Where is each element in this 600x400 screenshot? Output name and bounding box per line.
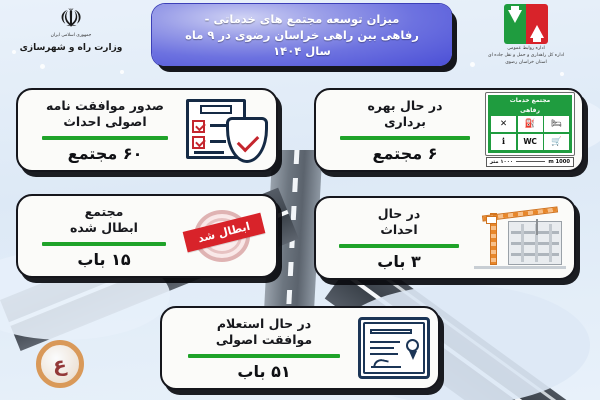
road-sign-distance-fa: ۱۰۰۰ متر [490,159,513,165]
road-sign-title-line-2: رفاهی [491,107,569,115]
clipboard-shield-icon [184,97,268,163]
stat-card-art: مجتمع خدمات رفاهی 🛏 ⛽ ✕ 🛒 WC ℹ 1000 m ۱۰… [486,93,574,167]
stat-card-inquiry[interactable]: در حال استعلام موافقت اصولی ۵۱ باب [160,306,440,390]
agency-watermark-logo: ﻉ [36,340,84,388]
stat-card-label-line-2: اصولی احداث [63,114,146,131]
road-sign-title-line-1: مجتمع خدمات [491,97,569,105]
crane-cabin [486,216,497,224]
organization-logo-block: اداره روابط عمومی اداره کل راهداری و حمل… [460,4,592,67]
iran-national-emblem-icon: ☫ [8,6,134,32]
stat-card-art [358,317,430,379]
service-complex-road-sign: مجتمع خدمات رفاهی 🛏 ⛽ ✕ 🛒 WC ℹ 1000 m ۱۰… [486,93,574,167]
ministry-caption-large: وزارت راه و شهرسازی [8,43,134,53]
stat-card-label-line-1: در حال [378,206,421,223]
fuel-pump-icon: ⛽ [518,116,543,132]
hotel-icon: 🛏 [544,116,569,132]
stat-card-construction[interactable]: در حال احداث ۳ باب [314,196,576,280]
stat-card-divider [339,244,458,248]
stat-card-value: ۵۱ باب [237,362,290,381]
information-icon: ℹ [491,134,516,150]
stat-card-divider [42,242,166,246]
cancelled-stamp-icon: ابطال شد [182,202,268,270]
road-sign-distance-en: 1000 m [548,159,570,165]
title-banner: میزان توسعه مجتمع های خدماتی - رفاهی بین… [152,4,452,66]
wc-icon: WC [518,134,543,150]
road-sign-icon-grid: 🛏 ⛽ ✕ 🛒 WC ℹ [491,116,569,150]
certificate-icon [358,317,430,379]
stat-card-value: ۳ باب [377,252,420,271]
stat-card-cancelled[interactable]: مجتمع ابطال شده ۱۵ باب ابطال شد [16,194,278,278]
organization-caption-line2: اداره کل راهداری و حمل و نقل جاده ای [460,53,592,60]
stat-card-info: در حال احداث ۳ باب [324,206,474,271]
stat-card-value: ۶۰ مجتمع [68,144,143,163]
agency-watermark-glyph: ﻉ [36,340,84,388]
stat-card-label-line-1: صدور موافقت نامه [46,98,164,115]
stat-card-divider [188,354,339,358]
road-sign-distance-bar: 1000 m ۱۰۰۰ متر [486,157,574,167]
road-sign-panel: مجتمع خدمات رفاهی 🛏 ⛽ ✕ 🛒 WC ℹ [486,93,574,155]
restaurant-icon: ✕ [491,116,516,132]
ministry-logo-block: ☫ جمهوری اسلامی ایران وزارت راه و شهرساز… [8,6,134,53]
page-title-line-2: رفاهی بین راهی خراسان رضوی در ۹ ماه [185,27,419,43]
stat-card-info: صدور موافقت نامه اصولی احداث ۶۰ مجتمع [26,98,184,163]
stat-card-value: ۶ مجتمع [373,144,438,163]
stat-card-operating[interactable]: در حال بهره برداری ۶ مجتمع مجتمع خدمات ر… [314,88,584,172]
ministry-caption-small: جمهوری اسلامی ایران [8,33,134,38]
signature-icon [371,359,401,368]
stat-card-label-line-1: در حال بهره [368,98,443,115]
road-maintenance-arrows-logo-icon [504,4,548,44]
road-sign-distance-rule [516,161,545,162]
stat-card-info: در حال بهره برداری ۶ مجتمع [324,98,486,163]
organization-caption-line3: استان خراسان رضوی [460,60,592,67]
stat-card-label-line-1: مجتمع [85,204,124,221]
stat-card-label-line-2: موافقت اصولی [216,332,312,349]
stat-card-art: ابطال شد [182,202,268,270]
stat-card-value: ۱۵ باب [77,250,130,269]
stat-card-label-line-2: احداث [380,222,417,239]
stat-card-info: در حال استعلام موافقت اصولی ۵۱ باب [170,316,358,381]
stat-card-divider [340,136,469,140]
header: اداره روابط عمومی اداره کل راهداری و حمل… [0,0,600,82]
stat-card-label-line-2: برداری [384,114,426,131]
stat-card-divider [42,136,168,140]
shopping-cart-icon: 🛒 [544,134,569,150]
page-title-line-1: میزان توسعه مجتمع های خدماتی - [205,11,400,27]
stat-card-label-line-1: در حال استعلام [217,316,311,333]
stat-card-approval[interactable]: صدور موافقت نامه اصولی احداث ۶۰ مجتمع [16,88,278,172]
ribbon-icon [409,351,417,360]
infographic-canvas: اداره روابط عمومی اداره کل راهداری و حمل… [0,0,600,400]
page-title-line-3: سال ۱۴۰۴ [273,43,331,59]
stat-card-art [184,97,268,163]
construction-crane-building-icon [474,205,566,271]
stat-card-info: مجتمع ابطال شده ۱۵ باب [26,204,182,269]
crane-hook [536,219,538,235]
organization-caption-line1: اداره روابط عمومی [460,46,592,53]
stat-card-label-line-2: ابطال شده [70,220,138,237]
stat-card-art [474,205,566,271]
